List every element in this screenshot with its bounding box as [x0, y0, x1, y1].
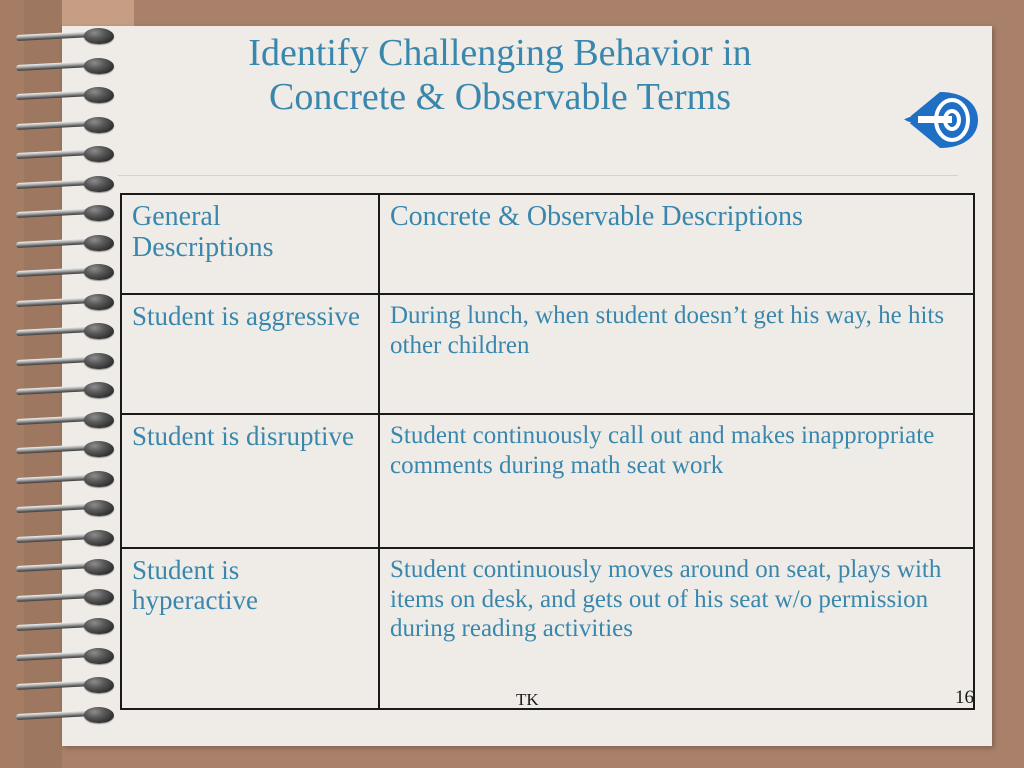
spiral-ring-wire [16, 444, 94, 454]
table-header-concrete: Concrete & Observable Descriptions [379, 194, 974, 294]
table-row: Student is disruptive Student continuous… [121, 414, 974, 548]
spiral-ring-wire [16, 31, 94, 41]
spiral-ring [16, 707, 120, 724]
behavior-table: General Descriptions Concrete & Observab… [120, 193, 975, 710]
spiral-ring [16, 559, 120, 576]
page-number: 16 [955, 687, 974, 709]
table-row: Student is hyperactive Student continuou… [121, 548, 974, 709]
spiral-ring-knob [84, 235, 114, 251]
spiral-ring-knob [84, 117, 114, 133]
spiral-ring-knob [84, 28, 114, 44]
spiral-ring-knob [84, 87, 114, 103]
slide-root: Identify Challenging Behavior in Concret… [0, 0, 1024, 768]
spiral-ring [16, 235, 120, 252]
spiral-ring [16, 648, 120, 665]
spiral-ring-knob [84, 677, 114, 693]
spiral-ring-wire [16, 119, 94, 129]
spiral-ring [16, 353, 120, 370]
table-cell-general: Student is disruptive [121, 414, 379, 548]
spiral-ring [16, 323, 120, 340]
spiral-ring-knob [84, 471, 114, 487]
spiral-ring-wire [16, 208, 94, 218]
spiral-ring-knob [84, 441, 114, 457]
spiral-ring-wire [16, 680, 94, 690]
spiral-ring [16, 500, 120, 517]
page-title-line-1: Identify Challenging Behavior in [120, 32, 880, 76]
spiral-ring-wire [16, 709, 94, 719]
title-divider [118, 175, 958, 176]
table-header-row: General Descriptions Concrete & Observab… [121, 194, 974, 294]
spiral-ring-wire [16, 562, 94, 572]
spiral-ring [16, 58, 120, 75]
spiral-ring-knob [84, 205, 114, 221]
spiral-ring [16, 441, 120, 458]
spiral-ring [16, 530, 120, 547]
table-cell-concrete: Student continuously moves around on sea… [379, 548, 974, 709]
spiral-ring-wire [16, 532, 94, 542]
spiral-ring [16, 28, 120, 45]
spiral-ring-knob [84, 412, 114, 428]
spiral-ring-wire [16, 414, 94, 424]
spiral-ring-knob [84, 146, 114, 162]
spiral-ring-knob [84, 382, 114, 398]
spiral-ring-knob [84, 707, 114, 723]
spiral-ring [16, 589, 120, 606]
spiral-ring-wire [16, 296, 94, 306]
spiral-ring [16, 264, 120, 281]
behavior-table-wrapper: General Descriptions Concrete & Observab… [120, 193, 975, 710]
spiral-ring [16, 618, 120, 635]
spiral-ring-wire [16, 503, 94, 513]
spiral-ring-wire [16, 90, 94, 100]
spiral-ring [16, 471, 120, 488]
page-title-line-2: Concrete & Observable Terms [120, 76, 880, 120]
spiral-ring [16, 677, 120, 694]
spiral-ring [16, 87, 120, 104]
spiral-ring-wire [16, 326, 94, 336]
spiral-ring-wire [16, 650, 94, 660]
spiral-ring-wire [16, 267, 94, 277]
footer-initials: TK [516, 690, 539, 710]
spiral-ring-wire [16, 149, 94, 159]
spiral-ring-wire [16, 621, 94, 631]
spiral-binding [16, 28, 126, 744]
spiral-ring-knob [84, 353, 114, 369]
spiral-ring-knob [84, 589, 114, 605]
spiral-ring-wire [16, 178, 94, 188]
spiral-ring-knob [84, 176, 114, 192]
table-cell-general: Student is hyperactive [121, 548, 379, 709]
spiral-ring-wire [16, 385, 94, 395]
spiral-ring [16, 146, 120, 163]
spiral-ring-wire [16, 591, 94, 601]
spiral-ring-knob [84, 618, 114, 634]
spiral-ring-knob [84, 58, 114, 74]
spiral-ring-wire [16, 355, 94, 365]
table-cell-general: Student is aggressive [121, 294, 379, 414]
spiral-ring-knob [84, 530, 114, 546]
table-cell-concrete: During lunch, when student doesn’t get h… [379, 294, 974, 414]
target-arrow-icon [900, 80, 980, 160]
spiral-ring-wire [16, 237, 94, 247]
spiral-ring [16, 294, 120, 311]
spiral-ring-knob [84, 323, 114, 339]
spiral-ring-knob [84, 294, 114, 310]
spiral-ring-knob [84, 500, 114, 516]
table-row: Student is aggressive During lunch, when… [121, 294, 974, 414]
spiral-ring-knob [84, 648, 114, 664]
page-title: Identify Challenging Behavior in Concret… [120, 32, 880, 119]
spiral-ring [16, 412, 120, 429]
spiral-ring [16, 205, 120, 222]
spiral-ring-knob [84, 264, 114, 280]
spiral-ring [16, 382, 120, 399]
table-header-general: General Descriptions [121, 194, 379, 294]
spiral-ring-wire [16, 60, 94, 70]
spiral-ring [16, 176, 120, 193]
spiral-ring [16, 117, 120, 134]
top-left-tab [62, 0, 134, 26]
table-cell-concrete: Student continuously call out and makes … [379, 414, 974, 548]
spiral-ring-wire [16, 473, 94, 483]
spiral-ring-knob [84, 559, 114, 575]
